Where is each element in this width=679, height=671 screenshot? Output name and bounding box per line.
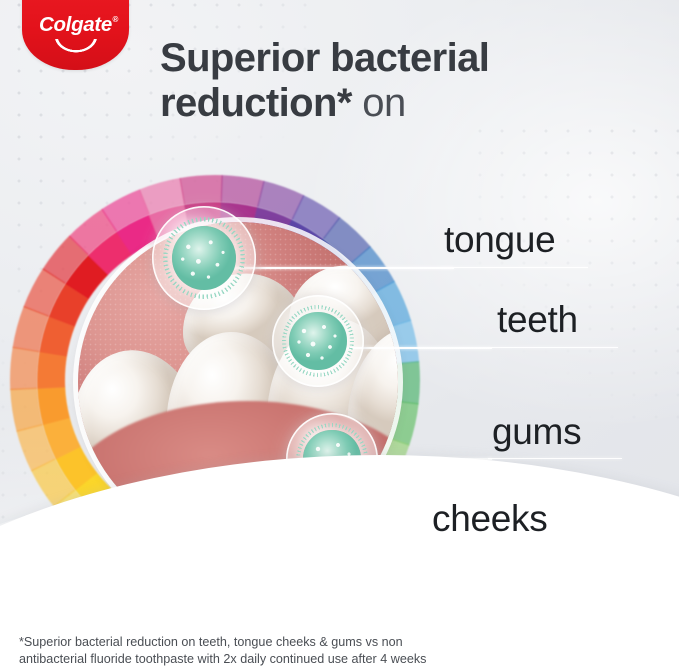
callout-rule-tongue (440, 267, 588, 268)
magnifier-bubble-tongue (152, 206, 256, 310)
footnote: *Superior bacterial reduction on teeth, … (19, 634, 659, 668)
callout-rule-teeth (492, 347, 618, 348)
callout-rule-gums (488, 458, 622, 459)
bacteria-cluster-icon (289, 312, 346, 369)
colgate-logo: Colgate® (22, 0, 129, 70)
headline-light: on (352, 81, 406, 125)
registered-mark: ® (112, 16, 118, 24)
magnifier-bubble-teeth (272, 295, 364, 387)
colgate-wordmark: Colgate® (39, 15, 112, 36)
callout-rule-cheeks (428, 545, 572, 546)
headline-bold: Superior bacterial reduction* (160, 36, 489, 125)
smile-curve-icon (54, 39, 98, 56)
footnote-line-2: antibacterial fluoride toothpaste with 2… (19, 651, 659, 668)
bacteria-cluster-icon (172, 226, 236, 290)
callout-label-gums: gums (492, 413, 581, 450)
colgate-ad-banner: Colgate® Superior bacterial reduction* o… (0, 0, 679, 671)
halftone-dots-top-right (469, 120, 679, 420)
callout-label-tongue: tongue (444, 221, 555, 258)
page-title: Superior bacterial reduction* on (160, 36, 660, 126)
footnote-line-1: *Superior bacterial reduction on teeth, … (19, 634, 659, 651)
callout-label-cheeks: cheeks (432, 500, 547, 537)
callout-label-teeth: teeth (497, 301, 578, 338)
